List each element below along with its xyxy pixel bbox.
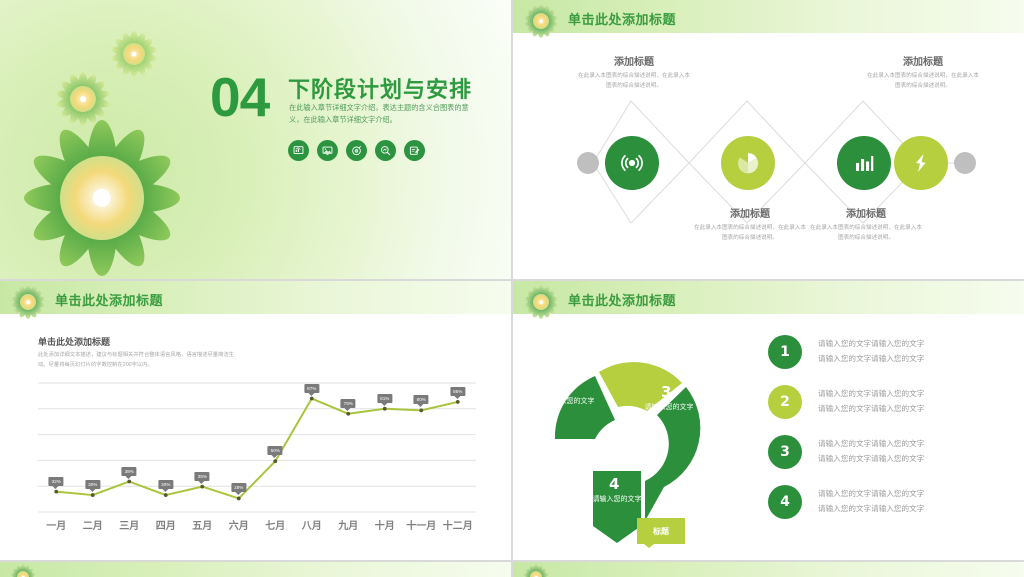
chart-value-label: 87% — [304, 384, 319, 393]
legend-text-line: 请输入您的文字请输入您的文字 — [818, 502, 924, 517]
timeline-body-4: 在此录入本图表的综合描述说明，在此录入本图表的综合描述说明。 — [865, 72, 981, 92]
legend-row[interactable]: 3请输入您的文字请输入您的文字请输入您的文字请输入您的文字 — [768, 433, 1008, 483]
flower-logo-icon — [522, 563, 550, 577]
decorative-flower-large — [12, 108, 192, 279]
bar-chart-icon — [853, 152, 875, 174]
timeline-text-2: 添加标题 在此录入本图表的综合描述说明，在此录入本图表的综合描述说明。 — [692, 205, 808, 244]
legend-text-line: 请输入您的文字请输入您的文字 — [818, 387, 924, 402]
legend-text: 请输入您的文字请输入您的文字请输入您的文字请输入您的文字 — [818, 487, 924, 517]
chart-x-tick: 五月 — [184, 517, 221, 539]
slide-header-title: 单击此处添加标题 — [55, 290, 163, 309]
chart-point — [54, 490, 58, 494]
chart-point — [164, 493, 168, 497]
timeline-body-2: 在此录入本图表的综合描述说明，在此录入本图表的综合描述说明。 — [692, 224, 808, 244]
slide-header-title: 单击此处添加标题 — [568, 9, 676, 28]
chart-point — [346, 412, 350, 416]
chart-point — [127, 480, 131, 484]
timeline-start-dot — [577, 152, 599, 174]
chart-x-tick: 六月 — [221, 517, 258, 539]
timeline-text-3: 添加标题 在此录入本图表的综合描述说明，在此录入本图表的综合描述说明。 — [808, 205, 924, 244]
question-mark-diagram: 1 请输入您的文字 2 请输入您的文字 3 请输入您的文字 4 请输入您的文字 — [533, 321, 793, 551]
chart-point — [273, 459, 277, 463]
pie-chart-icon — [736, 151, 760, 175]
chart-point — [91, 493, 95, 497]
decorative-flower-small — [108, 28, 160, 80]
section-subtitle: 在此输入章节详细文字介绍，表达主题的含义合图表的意义，在此输入章节详细文字介绍。 — [289, 102, 469, 126]
section-title: 下阶段计划与安排 — [288, 72, 472, 104]
wifi-signal-icon — [619, 150, 645, 176]
decorative-flower-medium — [52, 68, 114, 130]
chart-x-tick: 八月 — [294, 517, 331, 539]
chart-value-label: 35% — [195, 472, 210, 481]
chart-x-tick: 十月 — [367, 517, 404, 539]
timeline-end-dot — [954, 152, 976, 174]
chart-point — [383, 407, 387, 411]
chart-x-tick: 二月 — [75, 517, 112, 539]
target-compass-icon[interactable] — [346, 140, 367, 161]
legend-text-line: 请输入您的文字请输入您的文字 — [818, 487, 924, 502]
chart-x-tick: 十一月 — [403, 517, 440, 539]
legend-text: 请输入您的文字请输入您的文字请输入您的文字请输入您的文字 — [818, 387, 924, 417]
question-segment-2-number: 2 — [629, 333, 639, 351]
presentation-chart-icon[interactable] — [288, 140, 309, 161]
legend-row[interactable]: 4请输入您的文字请输入您的文字请输入您的文字请输入您的文字 — [768, 483, 1008, 533]
chart-value-label: 81% — [377, 394, 392, 403]
section-number: 04 — [210, 70, 269, 125]
question-legend-list: 1请输入您的文字请输入您的文字请输入您的文字请输入您的文字2请输入您的文字请输入… — [768, 333, 1008, 533]
cover-background: 04 下阶段计划与安排 在此输入章节详细文字介绍，表达主题的含义合图表的意义，在… — [0, 0, 511, 279]
slide-partial-bottom-right[interactable] — [513, 562, 1024, 577]
question-segment-2-text: 请输入您的文字 — [607, 353, 663, 363]
legend-text-line: 请输入您的文字请输入您的文字 — [818, 402, 924, 417]
chart-value-label: 30% — [85, 480, 100, 489]
question-caption-box[interactable]: 标题 — [637, 518, 685, 544]
flower-logo-icon — [9, 283, 47, 321]
timeline-diagram: 添加标题 在此录入本图表的综合描述说明，在此录入本图表的综合描述说明。 添加标题… — [513, 33, 1024, 279]
cover-icon-row — [288, 140, 425, 161]
legend-row[interactable]: 1请输入您的文字请输入您的文字请输入您的文字请输入您的文字 — [768, 333, 1008, 383]
image-slide-icon[interactable] — [317, 140, 338, 161]
chart-value-label: 85% — [450, 387, 465, 396]
timeline-node-1[interactable] — [605, 136, 659, 190]
legend-text: 请输入您的文字请输入您的文字请输入您的文字请输入您的文字 — [818, 337, 924, 367]
timeline-node-4[interactable] — [894, 136, 948, 190]
chart-x-tick: 九月 — [330, 517, 367, 539]
legend-bullet: 4 — [768, 485, 802, 519]
chart-x-tick: 四月 — [148, 517, 185, 539]
chart-value-label: 78% — [341, 399, 356, 408]
slide-thumbnail-grid: 04 下阶段计划与安排 在此输入章节详细文字介绍，表达主题的含义合图表的意义，在… — [0, 0, 1024, 577]
question-segment-1-number: 1 — [563, 377, 573, 395]
legend-bullet: 2 — [768, 385, 802, 419]
timeline-title-2: 添加标题 — [692, 205, 808, 220]
question-segment-4-number: 4 — [609, 475, 619, 493]
question-segment-3-text: 请输入您的文字 — [643, 403, 695, 413]
chart-x-tick: 一月 — [38, 517, 75, 539]
chart-point — [419, 409, 423, 413]
chart-line — [56, 399, 458, 499]
slide-section-cover[interactable]: 04 下阶段计划与安排 在此输入章节详细文字介绍，表达主题的含义合图表的意义，在… — [0, 0, 511, 279]
chart-point — [200, 485, 204, 489]
edit-form-icon[interactable] — [404, 140, 425, 161]
slide-header-title: 单击此处添加标题 — [568, 290, 676, 309]
timeline-text-1: 添加标题 在此录入本图表的综合描述说明，在此录入本图表的综合描述说明。 — [576, 53, 692, 92]
chart-value-label: 80% — [414, 395, 429, 404]
timeline-body-1: 在此录入本图表的综合描述说明，在此录入本图表的综合描述说明。 — [576, 72, 692, 92]
question-segment-4-text: 请输入您的文字 — [591, 495, 643, 505]
legend-text-line: 请输入您的文字请输入您的文字 — [818, 337, 924, 352]
chart-content-desc: 此处添加详细文本描述，建议与标题相关并符合整体语言风格，语言描述尽量简洁生动。尽… — [38, 351, 238, 370]
chart-point — [310, 397, 314, 401]
slide-question-diagram[interactable]: 单击此处添加标题 1 请输入您的文字 2 请输入您的文字 3 请输入您的文字 4… — [513, 281, 1024, 560]
chart-svg — [38, 381, 476, 516]
search-chart-icon[interactable] — [375, 140, 396, 161]
chart-value-label: 38% — [122, 467, 137, 476]
chart-x-axis-labels: 一月二月三月四月五月六月七月八月九月十月十一月十二月 — [38, 517, 476, 539]
slide-partial-bottom-left[interactable] — [0, 562, 511, 577]
line-chart-plot: 32%30%38%30%35%28%50%87%78%81%80%85% — [38, 381, 476, 516]
chart-point — [237, 497, 241, 501]
question-segment-1-text: 请输入您的文字 — [545, 397, 595, 407]
lightning-bolt-icon — [910, 152, 932, 174]
chart-x-tick: 三月 — [111, 517, 148, 539]
legend-text-line: 请输入您的文字请输入您的文字 — [818, 452, 924, 467]
chart-point — [456, 400, 460, 404]
flower-logo-icon — [522, 283, 560, 321]
question-segment-3-number: 3 — [661, 383, 671, 401]
timeline-title-4: 添加标题 — [865, 53, 981, 68]
slide-header-bar — [0, 562, 511, 577]
legend-bullet: 1 — [768, 335, 802, 369]
chart-x-tick: 七月 — [257, 517, 294, 539]
flower-logo-icon — [9, 563, 37, 577]
legend-text-line: 请输入您的文字请输入您的文字 — [818, 352, 924, 367]
slide-header-bar — [513, 562, 1024, 577]
timeline-text-4: 添加标题 在此录入本图表的综合描述说明，在此录入本图表的综合描述说明。 — [865, 53, 981, 92]
legend-text-line: 请输入您的文字请输入您的文字 — [818, 437, 924, 452]
timeline-title-3: 添加标题 — [808, 205, 924, 220]
chart-value-label: 32% — [49, 477, 64, 486]
legend-row[interactable]: 2请输入您的文字请输入您的文字请输入您的文字请输入您的文字 — [768, 383, 1008, 433]
slide-line-chart[interactable]: 单击此处添加标题 单击此处添加标题 此处添加详细文本描述，建议与标题相关并符合整… — [0, 281, 511, 560]
slide-timeline[interactable]: 单击此处添加标题 添加标题 在此录入本图表的综合描述说明，在此录入本图表的综合描… — [513, 0, 1024, 279]
chart-value-label: 50% — [268, 446, 283, 455]
chart-value-label: 30% — [158, 480, 173, 489]
chart-content-title: 单击此处添加标题 — [38, 335, 110, 348]
chart-x-tick: 十二月 — [440, 517, 477, 539]
timeline-body-3: 在此录入本图表的综合描述说明，在此录入本图表的综合描述说明。 — [808, 224, 924, 244]
chart-value-label: 28% — [231, 483, 246, 492]
legend-bullet: 3 — [768, 435, 802, 469]
timeline-node-3[interactable] — [837, 136, 891, 190]
timeline-title-1: 添加标题 — [576, 53, 692, 68]
timeline-node-2[interactable] — [721, 136, 775, 190]
legend-text: 请输入您的文字请输入您的文字请输入您的文字请输入您的文字 — [818, 437, 924, 467]
